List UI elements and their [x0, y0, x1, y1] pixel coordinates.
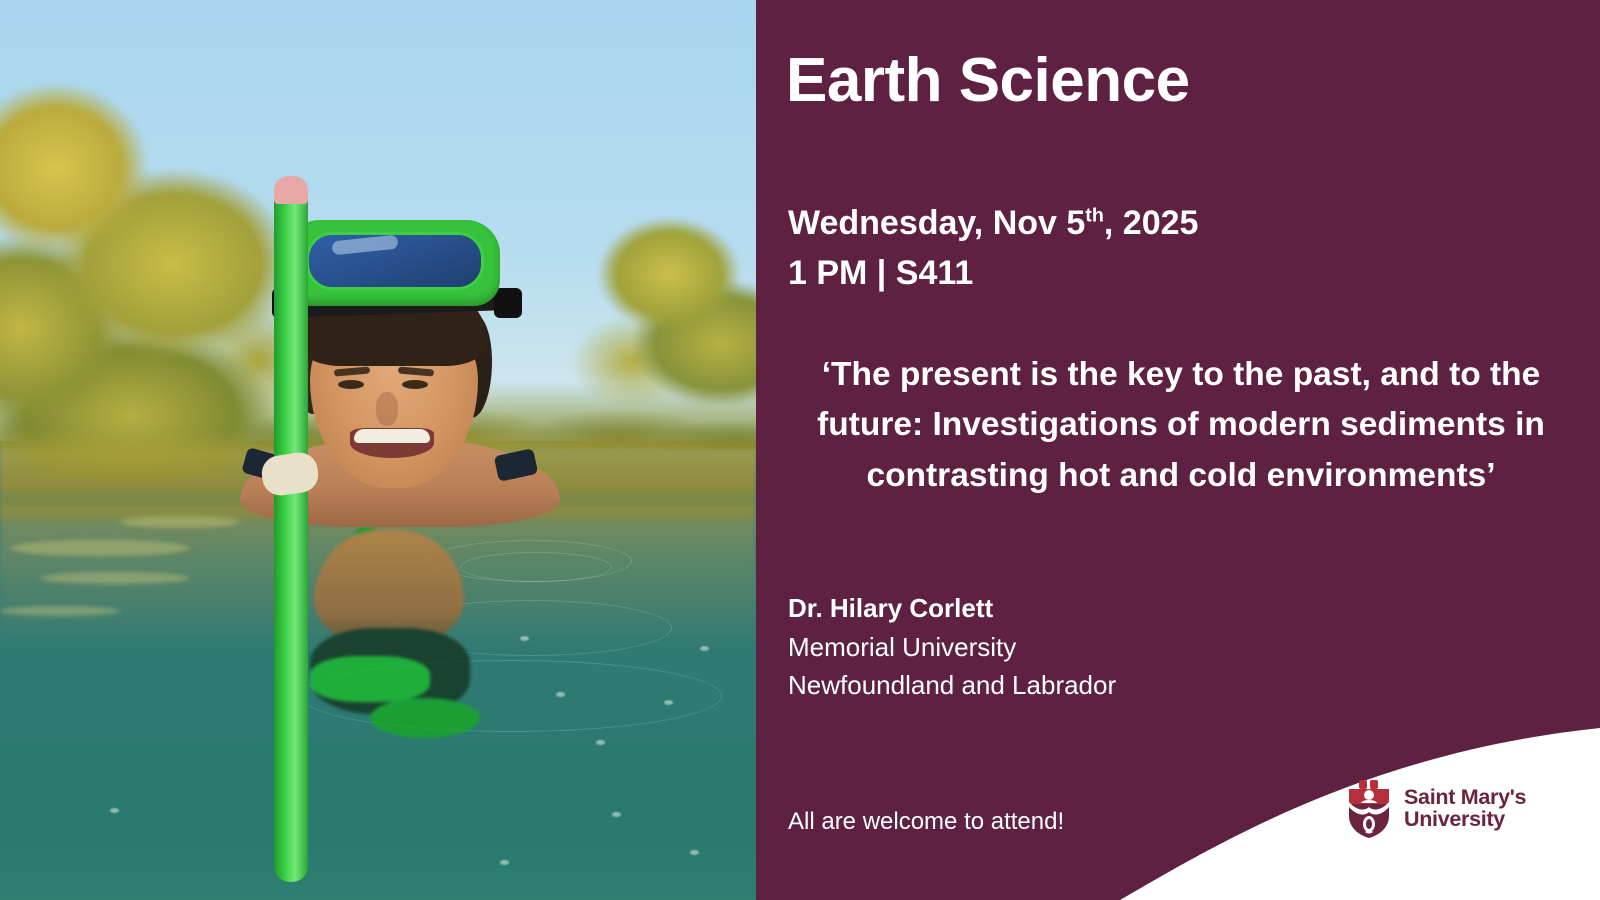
event-year: , 2025: [1104, 204, 1199, 242]
mask-strap-clip: [494, 288, 522, 318]
reflection-streak: [0, 606, 120, 616]
foreground-tree-right: [560, 210, 756, 440]
reflection-streak: [40, 572, 190, 584]
teeth: [354, 429, 430, 443]
mask-reflection: [310, 656, 430, 702]
event-datetime: Wednesday, Nov 5th, 20251 PM | S411: [788, 198, 1198, 299]
event-date: Wednesday, Nov 5: [788, 204, 1085, 242]
water-bubble: [690, 850, 699, 855]
smu-crest-icon: [1344, 780, 1394, 838]
event-time-room: 1 PM | S411: [788, 254, 973, 292]
logo-line-2: University: [1404, 809, 1526, 831]
snorkel-tip: [274, 176, 308, 204]
reflection-streak: [10, 540, 190, 556]
speaker-name: Dr. Hilary Corlett: [788, 590, 1388, 628]
speaker-block: Dr. Hilary Corlett Memorial University N…: [788, 590, 1388, 704]
talk-title: ‘The present is the key to the past, and…: [786, 350, 1576, 501]
nose: [376, 392, 398, 426]
logo-wordmark: Saint Mary's University: [1404, 787, 1526, 831]
water-bubble: [612, 812, 621, 817]
logo-line-1: Saint Mary's: [1404, 787, 1526, 809]
snorkel-tube: [274, 182, 308, 882]
eye: [402, 380, 428, 389]
water-bubble: [556, 692, 565, 697]
mask-reflection: [370, 698, 480, 738]
reflection-streak: [120, 516, 240, 528]
water-bubble: [664, 700, 673, 705]
mouth: [350, 428, 434, 458]
speaker-affiliation: Memorial University Newfoundland and Lab…: [788, 628, 1388, 704]
date-ordinal-suffix: th: [1085, 205, 1104, 227]
seminar-poster: Earth Science Wednesday, Nov 5th, 20251 …: [0, 0, 1600, 900]
water-bubble: [500, 860, 509, 865]
water-bubble: [596, 740, 605, 745]
welcome-note: All are welcome to attend!: [788, 808, 1064, 836]
saint-marys-university-logo: Saint Mary's University: [1344, 778, 1544, 840]
speaker-photo: [0, 0, 756, 900]
department-title: Earth Science: [786, 48, 1190, 113]
eye: [338, 380, 364, 389]
info-panel: Earth Science Wednesday, Nov 5th, 20251 …: [756, 0, 1600, 900]
swimmer: [258, 222, 558, 512]
water-bubble: [110, 808, 119, 813]
water-bubble: [700, 646, 709, 651]
